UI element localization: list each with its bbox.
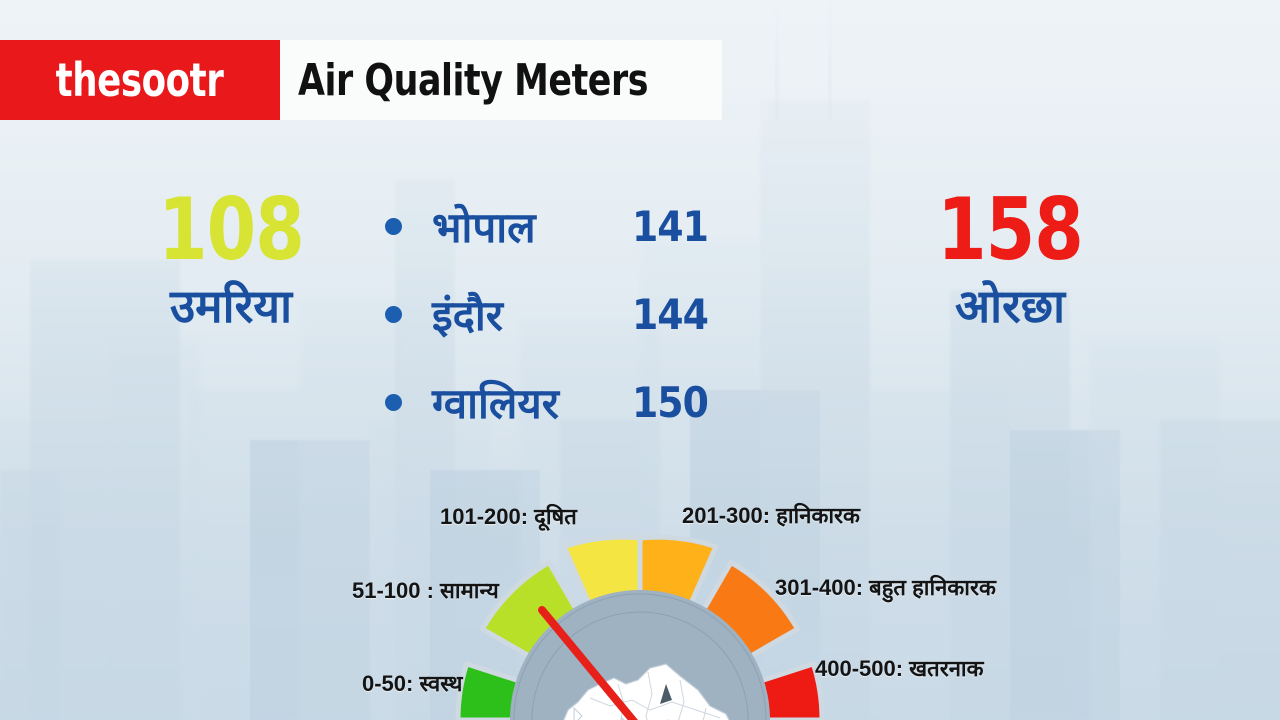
city-value: 141 xyxy=(632,202,708,251)
stat-orchha-city: ओरछा xyxy=(890,280,1130,333)
stat-orchha: 158 ओरछा xyxy=(890,190,1130,333)
city-name: ग्वालियर xyxy=(432,374,632,431)
list-item: ग्वालियर 150 xyxy=(385,358,765,446)
brand-logo-text: thesootr xyxy=(56,53,224,107)
gauge-label-400-500: 400-500: खतरनाक xyxy=(815,653,984,683)
city-value: 144 xyxy=(632,290,708,339)
page-title-text: Air Quality Meters xyxy=(298,55,648,106)
brand-logo[interactable]: thesootr xyxy=(0,40,280,120)
stat-umaria: 108 उमरिया xyxy=(96,190,366,333)
stat-umaria-city: उमरिया xyxy=(96,280,366,333)
bullet-icon xyxy=(385,394,402,411)
list-item: इंदौर 144 xyxy=(385,270,765,358)
gauge-label-301-400: 301-400: बहुत हानिकारक xyxy=(775,572,996,602)
gauge-label-201-300: 201-300: हानिकारक xyxy=(682,500,860,530)
bullet-icon xyxy=(385,218,402,235)
bullet-icon xyxy=(385,306,402,323)
city-name: इंदौर xyxy=(432,286,632,343)
page-title: Air Quality Meters xyxy=(280,40,722,120)
header-bar: thesootr Air Quality Meters xyxy=(0,40,722,120)
list-item: भोपाल 141 xyxy=(385,182,765,270)
gauge-label-51-100: 51-100 : सामान्य xyxy=(352,575,499,605)
stat-umaria-value: 108 xyxy=(107,190,355,272)
aqi-gauge xyxy=(400,520,880,720)
city-value: 150 xyxy=(632,378,708,427)
city-aqi-list: भोपाल 141 इंदौर 144 ग्वालियर 150 xyxy=(385,182,765,446)
city-name: भोपाल xyxy=(432,198,632,255)
gauge-label-0-50: 0-50: स्वस्थ xyxy=(362,668,462,698)
infographic-canvas: thesootr Air Quality Meters 108 उमरिया 1… xyxy=(0,0,1280,720)
gauge-label-101-200: 101-200: दूषित xyxy=(440,501,577,531)
stat-orchha-value: 158 xyxy=(900,190,1121,272)
